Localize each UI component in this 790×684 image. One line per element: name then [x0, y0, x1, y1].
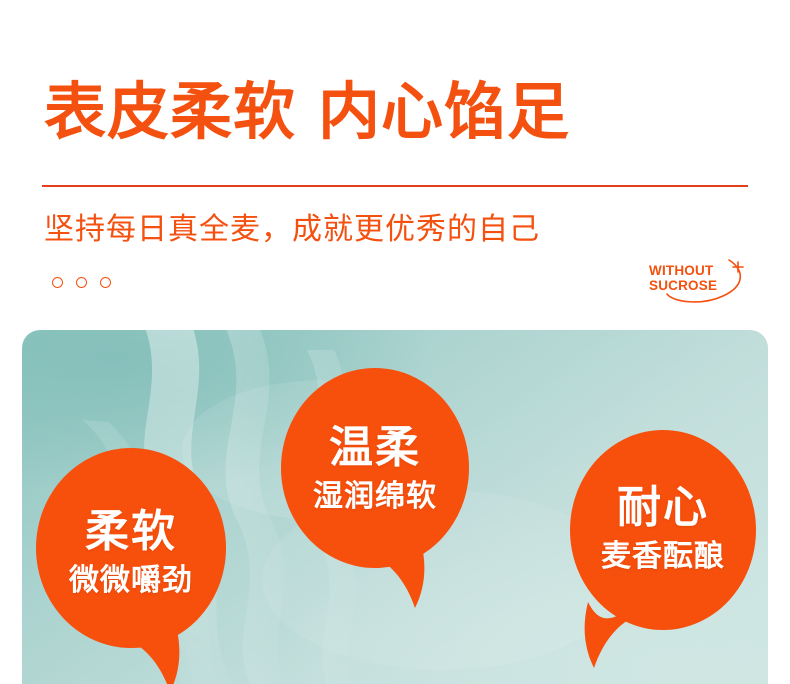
- bubble-tail-icon: [562, 600, 632, 670]
- bubble-tail-icon: [377, 540, 447, 610]
- feature-bubble-soft: 柔软 微微嚼劲: [36, 448, 226, 648]
- badge-label: WITHOUT SUCROSE: [649, 264, 717, 293]
- bubble-title: 温柔: [281, 426, 469, 470]
- feature-bubble-gentle: 温柔 湿润绵软: [281, 368, 469, 568]
- badge-line-1: WITHOUT: [649, 264, 717, 279]
- bubble-subtitle: 麦香酝酿: [570, 542, 756, 572]
- headline-part-2: 内心馅足: [318, 78, 570, 147]
- page-subtitle: 坚持每日真全麦，成就更优秀的自己: [44, 210, 540, 249]
- bubble-tail-icon: [132, 624, 202, 684]
- header-divider: [42, 185, 748, 187]
- bubble-subtitle: 微微嚼劲: [36, 566, 226, 596]
- feature-image-panel: 柔软 微微嚼劲 温柔 湿润绵软 耐心 麦香酝酿: [22, 330, 768, 684]
- bubble-title: 耐心: [570, 486, 756, 530]
- circle-dot-icon: [100, 277, 111, 288]
- feature-bubble-patient: 耐心 麦香酝酿: [570, 430, 756, 630]
- circle-dot-icon: [76, 277, 87, 288]
- badge-line-2: SUCROSE: [649, 279, 717, 294]
- page-title: 表皮柔软内心馅足: [44, 82, 570, 144]
- headline-part-1: 表皮柔软: [44, 78, 296, 147]
- decorative-dots: [52, 277, 111, 288]
- circle-dot-icon: [52, 277, 63, 288]
- bubble-subtitle: 湿润绵软: [281, 482, 469, 512]
- without-sucrose-badge: WITHOUT SUCROSE: [645, 256, 755, 306]
- bubble-title: 柔软: [36, 510, 226, 554]
- product-detail-page: 表皮柔软内心馅足 坚持每日真全麦，成就更优秀的自己 WITHOUT SUCROS…: [0, 0, 790, 684]
